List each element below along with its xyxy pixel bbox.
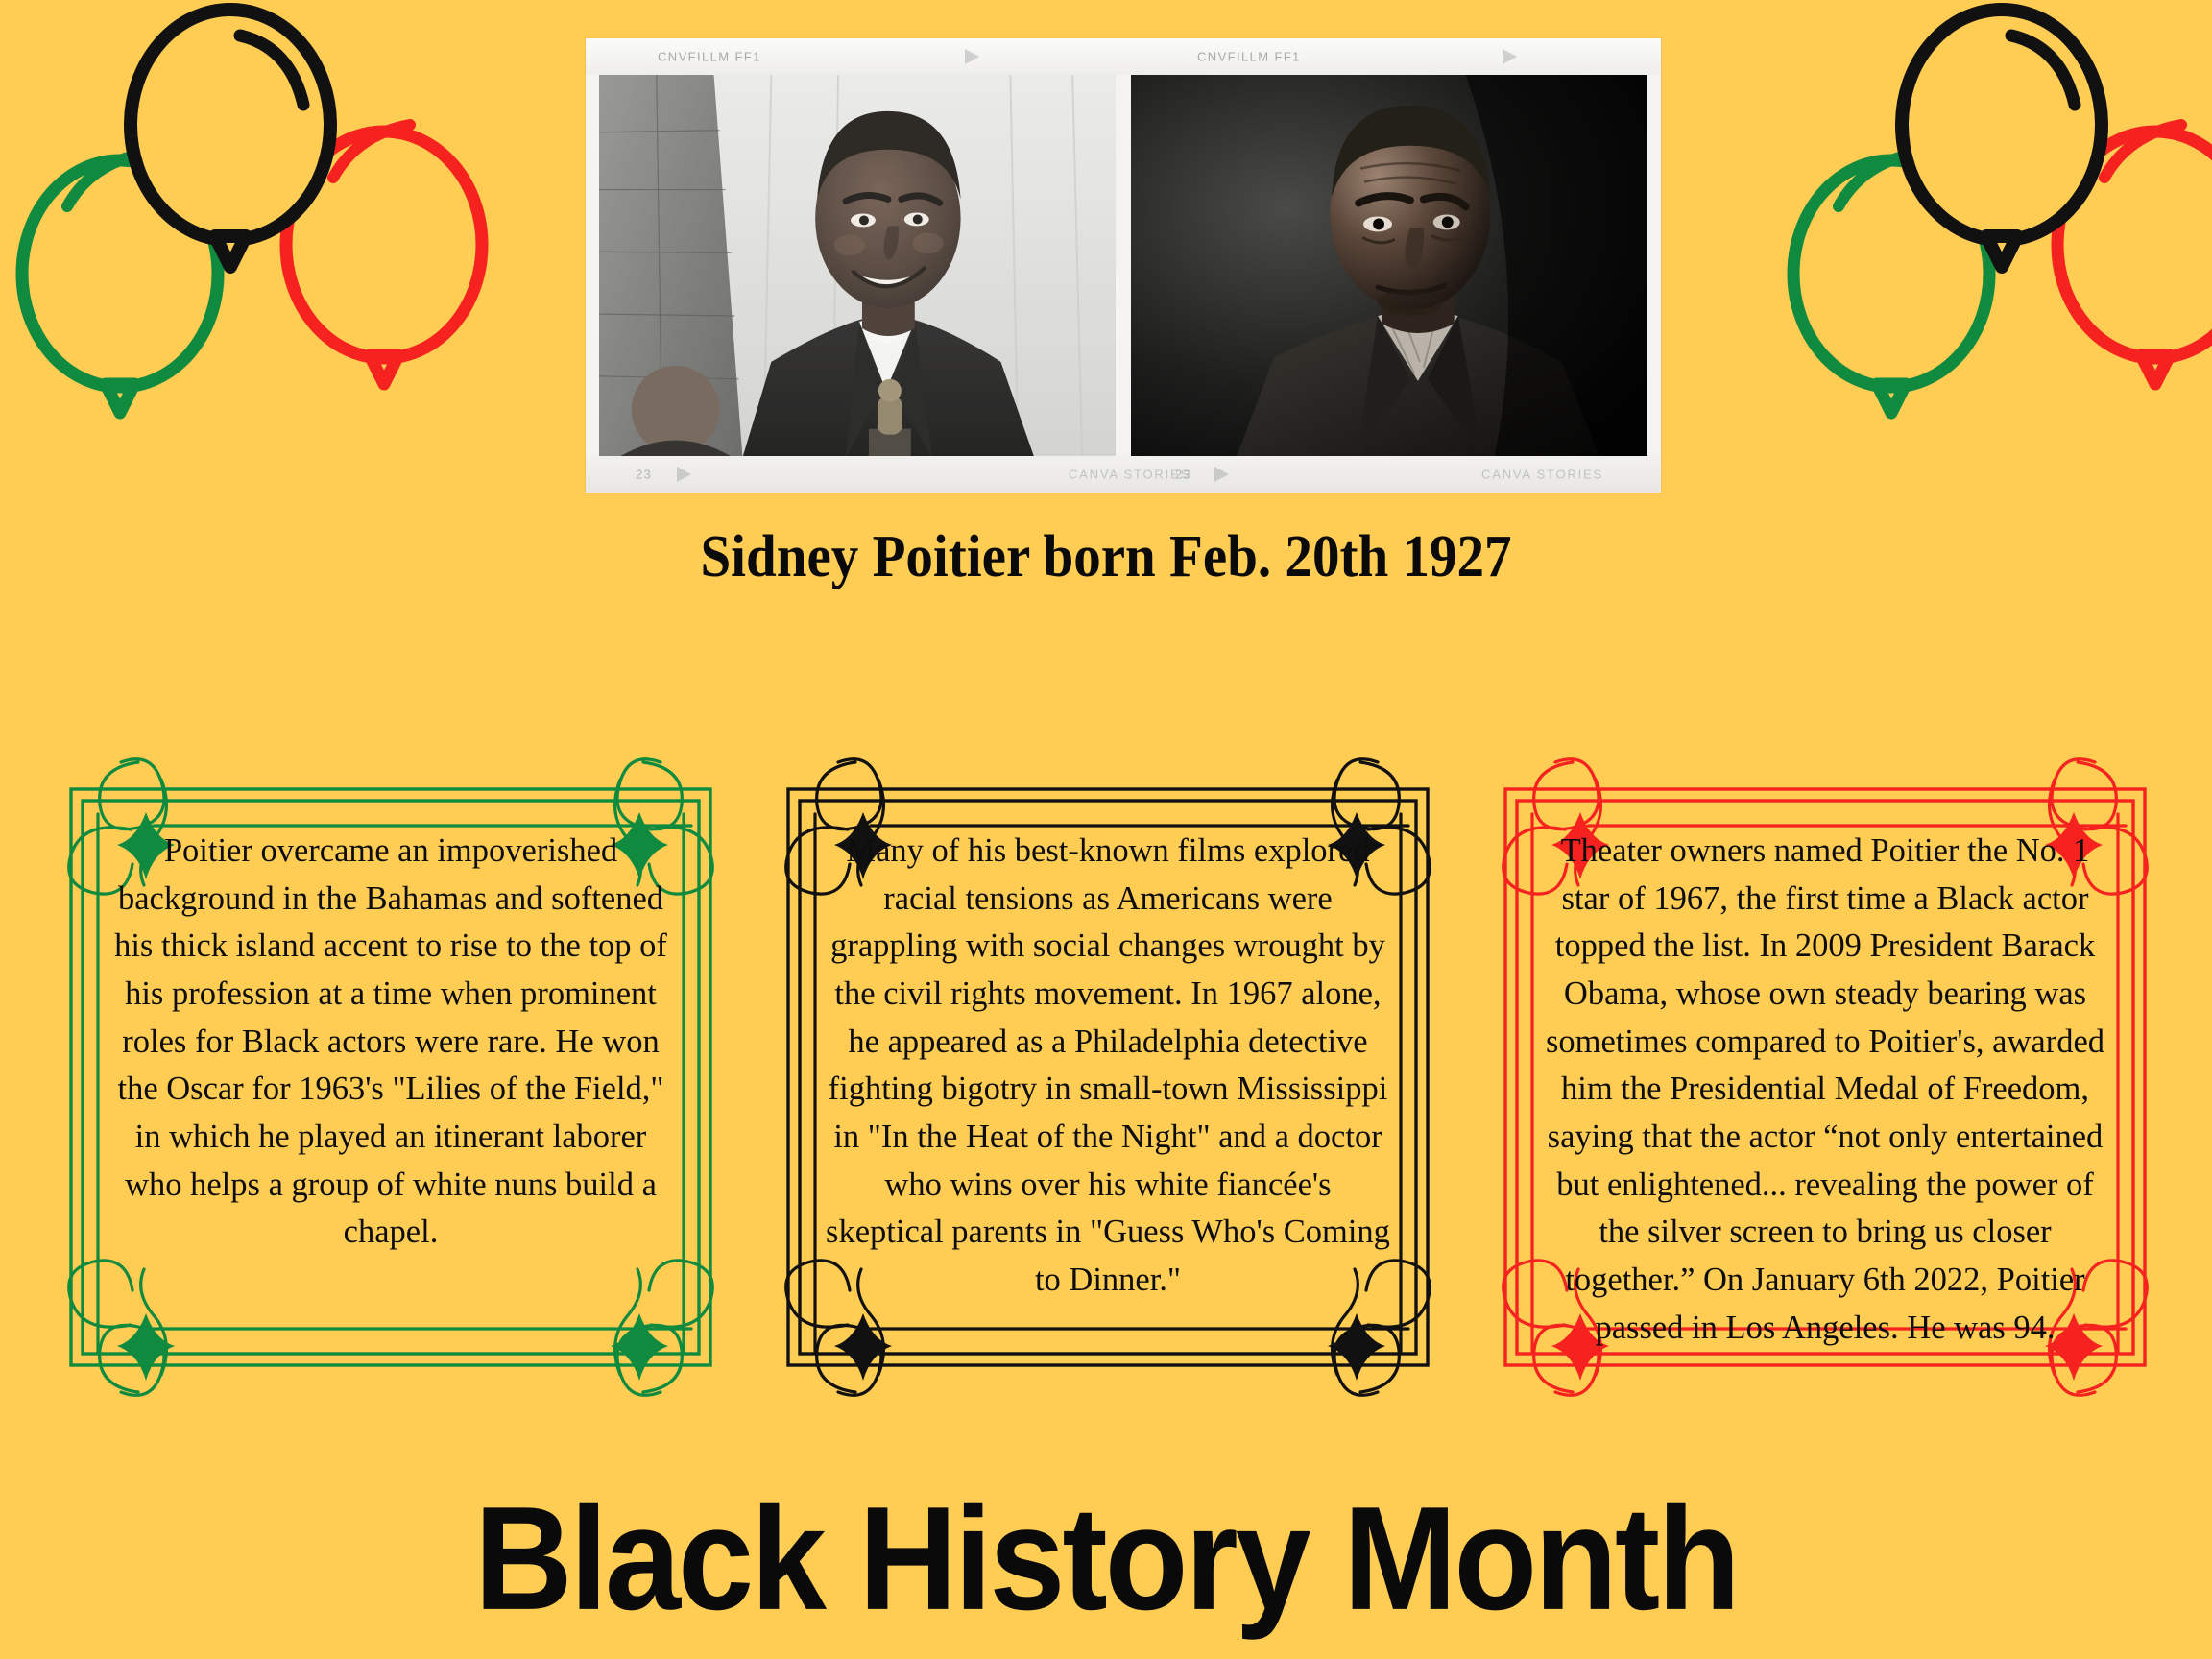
fact-card-text-green: Poitier overcame an impoverished backgro… — [106, 828, 676, 1257]
filmstrip-footer: 23 CANVA STORIES 23 CANVA STORIES — [586, 456, 1661, 493]
fact-card-text-black: Many of his best-known films explored ra… — [823, 828, 1393, 1305]
film-brand-label-left: CANVA STORIES — [1069, 468, 1190, 482]
film-code-label-right: CNVFILLM FF1 — [1197, 50, 1301, 64]
filmstrip-frames — [586, 75, 1661, 456]
film-advance-arrow-left-top — [965, 49, 979, 64]
film-frame-2 — [1131, 75, 1647, 456]
fact-card-green: Poitier overcame an impoverished backgro… — [46, 722, 735, 1432]
film-advance-arrow-right-bottom — [1214, 467, 1229, 482]
fact-card-red: Theater owners named Poitier the No. 1 s… — [1480, 722, 2170, 1432]
film-frame-number-right: 23 — [1175, 468, 1191, 482]
fact-cards: Poitier overcame an impoverished backgro… — [46, 722, 2170, 1442]
filmstrip-header: CNVFILLM FF1 CNVFILLM FF1 — [586, 38, 1661, 75]
fact-card-text-red: Theater owners named Poitier the No. 1 s… — [1540, 828, 2110, 1352]
film-advance-arrow-right-top — [1503, 49, 1517, 64]
film-brand-label-right: CANVA STORIES — [1481, 468, 1603, 482]
balloon-cluster-right — [1781, 0, 2212, 451]
balloon-black-icon — [131, 10, 330, 267]
film-frame-number-left: 23 — [636, 468, 652, 482]
fact-card-black: Many of his best-known films explored ra… — [763, 722, 1453, 1432]
film-code-label-left: CNVFILLM FF1 — [658, 50, 761, 64]
filmstrip-photos: CNVFILLM FF1 CNVFILLM FF1 — [586, 38, 1661, 493]
balloon-black-icon — [1902, 10, 2102, 267]
balloon-cluster-left — [10, 0, 509, 451]
film-advance-arrow-left-bottom — [677, 467, 691, 482]
bottom-heading: Black History Month — [0, 1474, 2212, 1644]
page-title: Sidney Poitier born Feb. 20th 1927 — [88, 523, 2124, 591]
film-frame-1 — [599, 75, 1116, 456]
